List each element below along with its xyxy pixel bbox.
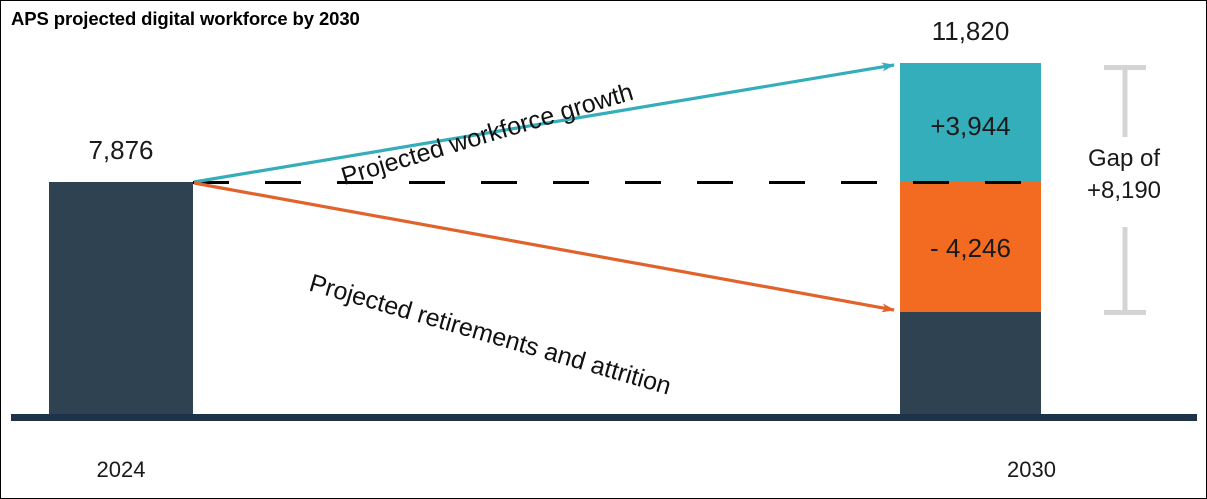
x-axis-line bbox=[11, 414, 1197, 421]
x-axis-label-2024: 2024 bbox=[49, 457, 193, 483]
x-axis-label-2030: 2030 bbox=[961, 457, 1102, 483]
chart-canvas: APS projected digital workforce by 2030 … bbox=[0, 0, 1207, 499]
gap-label-line2: +8,190 bbox=[1064, 175, 1184, 207]
attrition-arrow bbox=[194, 183, 894, 310]
gap-label: Gap of +8,190 bbox=[1064, 143, 1184, 207]
gap-label-line1: Gap of bbox=[1064, 143, 1184, 175]
chart-overlay bbox=[1, 1, 1207, 499]
